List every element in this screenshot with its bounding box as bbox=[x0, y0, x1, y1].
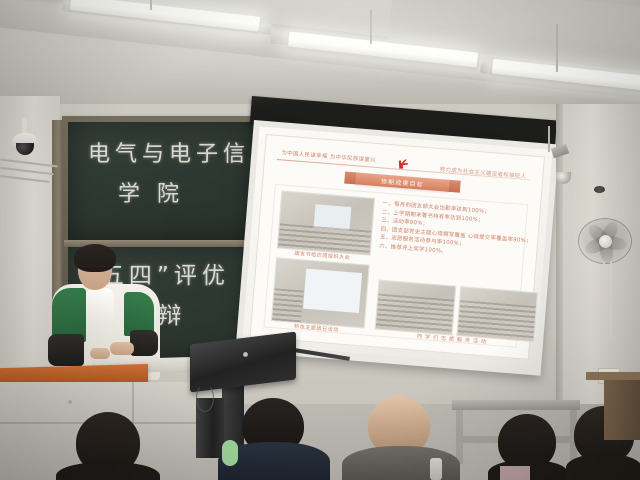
presenter-hand-right bbox=[110, 342, 134, 355]
presenter-hand-left bbox=[90, 348, 110, 359]
wood-trim-right bbox=[586, 372, 640, 380]
light-hanger-1 bbox=[150, 0, 152, 10]
presenter-glasses bbox=[80, 266, 108, 273]
audience-shoulders bbox=[566, 454, 640, 480]
fan-hub bbox=[599, 235, 612, 248]
lecture-hall-photo: 电气与电子信息 学 院 “五四”评优 答 辩 为中国人民谋幸福 为中华民族谋复兴… bbox=[0, 0, 640, 480]
slide-photo-3 bbox=[375, 280, 457, 336]
fan-pull-cord-1[interactable] bbox=[603, 262, 605, 352]
audience-shoulders bbox=[56, 462, 160, 480]
presenter-sleeve-right bbox=[130, 330, 158, 356]
slide-photo-1 bbox=[277, 190, 375, 255]
slide-photo-2 bbox=[271, 257, 370, 328]
presenter-sleeve-left bbox=[48, 334, 84, 366]
water-bottle bbox=[430, 458, 442, 480]
audience-phone-green bbox=[222, 440, 238, 466]
audience-left-long-hair bbox=[56, 412, 160, 480]
party-emblem-icon bbox=[396, 158, 411, 171]
dome-camera-left-icon bbox=[12, 133, 38, 147]
fan-pull-cord-2[interactable] bbox=[610, 262, 612, 340]
slide-photo-4 bbox=[456, 286, 538, 342]
audience-shoulders bbox=[342, 446, 460, 480]
wood-panel-right bbox=[604, 380, 640, 440]
light-hanger-2 bbox=[370, 10, 372, 44]
slide-slogan-right: 努力成为社会主义建设者和接班人 bbox=[439, 165, 526, 180]
light-hanger-3 bbox=[556, 24, 558, 72]
audience-navy-jacket bbox=[218, 398, 330, 480]
audience-desk bbox=[452, 400, 580, 410]
presenter-shirt bbox=[86, 288, 114, 324]
wall-fan-icon[interactable] bbox=[578, 218, 632, 264]
blackboard-text-line-2: 学 院 bbox=[118, 176, 184, 208]
lectern-knob-1[interactable] bbox=[68, 400, 72, 404]
paper-on-desk bbox=[500, 466, 530, 480]
console-cable bbox=[196, 384, 214, 412]
console-power-led bbox=[243, 352, 248, 357]
blackboard-text-line-1: 电气与电子信息 bbox=[88, 136, 277, 168]
slide-slogan-left: 为中国人民谋幸福 为中华民族谋复兴 bbox=[281, 148, 376, 164]
slide-inner-border: 为中国人民谋幸福 为中华民族谋复兴 努力成为社会主义建设者和接班人 预期成果目标 bbox=[250, 134, 545, 360]
slide-title-text: 预期成果目标 bbox=[381, 176, 425, 188]
ceiling-speaker-icon bbox=[594, 186, 605, 193]
slide-bullet-list: 一、每月的团支部大会出勤率达到100%； 二、上学期期末著书持有率达到100%；… bbox=[379, 200, 523, 263]
presentation-slide: 为中国人民谋幸福 为中华民族谋复兴 努力成为社会主义建设者和接班人 预期成果目标 bbox=[242, 126, 553, 367]
slide-body: 团支书组织团组织大会 特色主题团日活动 一、每月的团支部大会出勤率达到100%；… bbox=[263, 184, 528, 348]
